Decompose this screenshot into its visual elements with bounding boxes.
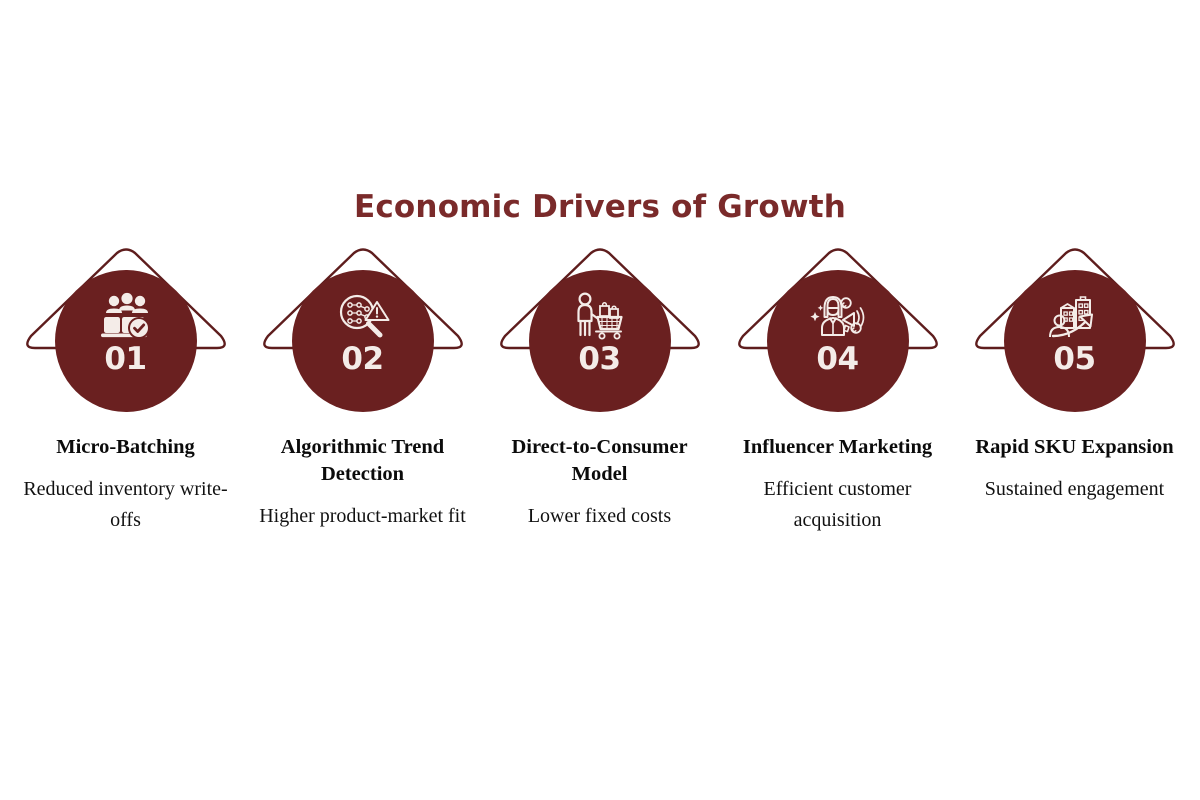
- driver-item-04[interactable]: 04 Influencer Marketing Efficient custom…: [719, 240, 956, 800]
- text-block-05: Rapid SKU Expansion Sustained engagement: [956, 434, 1193, 505]
- text-block-02: Algorithmic Trend Detection Higher produ…: [244, 434, 481, 532]
- page-title: Economic Drivers of Growth: [0, 189, 1200, 225]
- driver-description-03: Lower fixed costs: [481, 501, 718, 532]
- badge-01: 01: [7, 240, 244, 432]
- circle-05: 05: [1004, 270, 1146, 412]
- circle-04: 04: [767, 270, 909, 412]
- driver-description-01: Reduced inventory write-offs: [7, 474, 244, 536]
- badge-number-05: 05: [1053, 344, 1095, 375]
- buildings-growth-arrow-icon: [1046, 291, 1104, 341]
- magnifier-data-alert-icon: [334, 291, 392, 341]
- driver-description-05: Sustained engagement: [956, 474, 1193, 505]
- badge-number-04: 04: [816, 344, 858, 375]
- driver-item-05[interactable]: 05 Rapid SKU Expansion Sustained engagem…: [956, 240, 1193, 800]
- driver-description-02: Higher product-market fit: [244, 501, 481, 532]
- driver-heading-03: Direct-to-Consumer Model: [481, 434, 718, 488]
- badge-03: 03: [481, 240, 718, 432]
- driver-item-03[interactable]: 03 Direct-to-Consumer Model Lower fixed …: [481, 240, 718, 800]
- driver-item-01[interactable]: 01 Micro-Batching Reduced inventory writ…: [7, 240, 244, 800]
- drivers-row: 01 Micro-Batching Reduced inventory writ…: [0, 240, 1200, 800]
- badge-02: 02: [244, 240, 481, 432]
- badge-05: 05: [956, 240, 1193, 432]
- shopper-cart-bags-icon: [571, 291, 629, 341]
- people-group-check-icon: [97, 291, 155, 341]
- influencer-megaphone-icon: [809, 291, 867, 341]
- driver-heading-02: Algorithmic Trend Detection: [244, 434, 481, 488]
- driver-description-04: Efficient customer acquisition: [719, 474, 956, 536]
- circle-01: 01: [55, 270, 197, 412]
- badge-number-01: 01: [104, 344, 146, 375]
- text-block-01: Micro-Batching Reduced inventory write-o…: [7, 434, 244, 536]
- driver-heading-05: Rapid SKU Expansion: [956, 434, 1193, 461]
- driver-heading-01: Micro-Batching: [7, 434, 244, 461]
- text-block-03: Direct-to-Consumer Model Lower fixed cos…: [481, 434, 718, 532]
- text-block-04: Influencer Marketing Efficient customer …: [719, 434, 956, 536]
- circle-03: 03: [529, 270, 671, 412]
- badge-number-02: 02: [341, 344, 383, 375]
- infographic-canvas: Economic Drivers of Growth: [0, 0, 1200, 800]
- circle-02: 02: [292, 270, 434, 412]
- driver-heading-04: Influencer Marketing: [719, 434, 956, 461]
- driver-item-02[interactable]: 02 Algorithmic Trend Detection Higher pr…: [244, 240, 481, 800]
- badge-04: 04: [719, 240, 956, 432]
- badge-number-03: 03: [578, 344, 620, 375]
